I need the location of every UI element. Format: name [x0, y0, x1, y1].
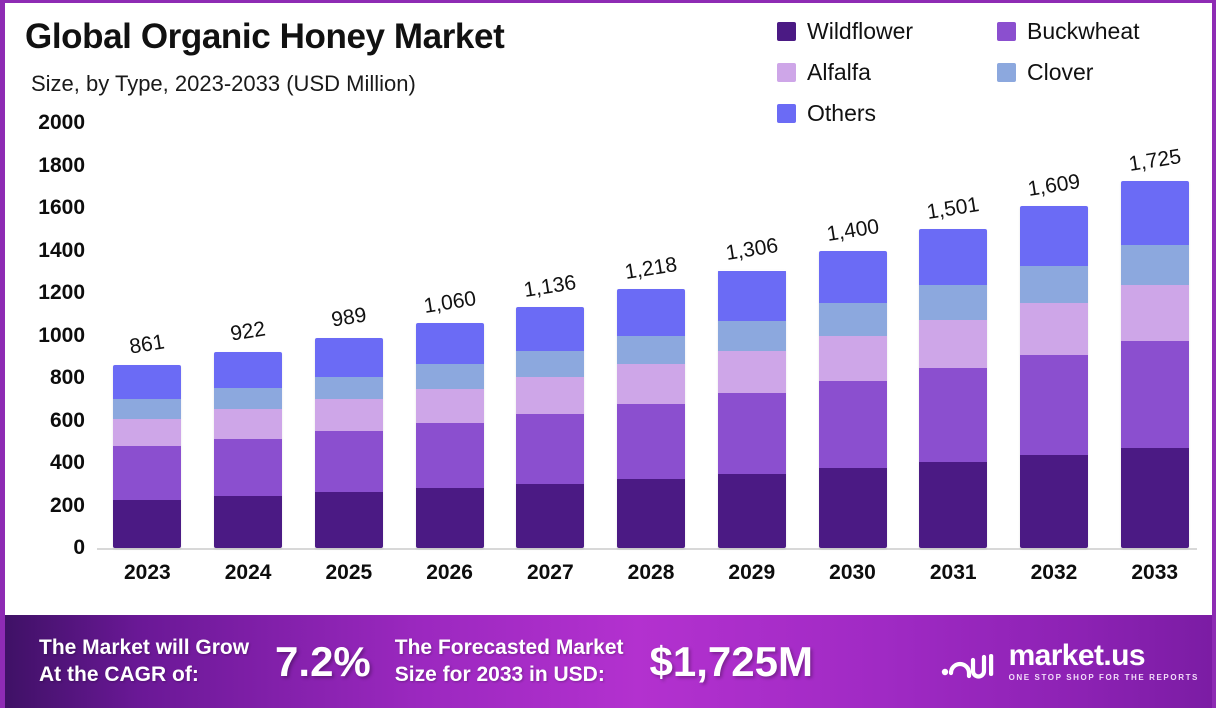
bar-segment-buckwheat[interactable] — [1121, 341, 1189, 449]
y-axis-tick: 2000 — [38, 111, 85, 135]
legend-item-label: Clover — [1027, 59, 1093, 86]
bar-stack[interactable] — [617, 289, 685, 548]
bar-value-label: 1,501 — [925, 193, 981, 225]
bar-column-2026[interactable]: 1,060 — [399, 123, 500, 548]
bar-value-label: 1,400 — [825, 215, 881, 247]
brand-tagline: ONE STOP SHOP FOR THE REPORTS — [1009, 674, 1199, 682]
legend-item-label: Wildflower — [807, 18, 913, 45]
bar-segment-others[interactable] — [214, 352, 282, 388]
bar-value-label: 1,218 — [623, 253, 679, 285]
bar-value-label: 1,136 — [522, 271, 578, 303]
page-subtitle: Size, by Type, 2023-2033 (USD Million) — [31, 71, 416, 97]
legend-swatch-icon — [997, 63, 1016, 82]
cagr-label: The Market will Grow At the CAGR of: — [39, 635, 249, 688]
y-axis-tick: 200 — [50, 494, 85, 518]
y-axis-tick: 800 — [50, 366, 85, 390]
cagr-value: 7.2% — [275, 638, 371, 686]
bar-value-label: 1,306 — [724, 235, 780, 267]
bar-segment-buckwheat[interactable] — [919, 368, 987, 461]
bar-stack[interactable] — [919, 229, 987, 548]
bar-column-2027[interactable]: 1,136 — [500, 123, 601, 548]
bar-column-2025[interactable]: 989 — [298, 123, 399, 548]
bar-segment-clover[interactable] — [416, 364, 484, 388]
bar-segment-others[interactable] — [718, 271, 786, 321]
legend-swatch-icon — [777, 63, 796, 82]
legend-item-label: Buckwheat — [1027, 18, 1140, 45]
y-axis-tick: 1000 — [38, 324, 85, 348]
brand-name: market.us — [1009, 641, 1199, 671]
bar-group: 8619229891,0601,1361,2181,3061,4001,5011… — [97, 123, 1205, 548]
bar-segment-others[interactable] — [1121, 181, 1189, 245]
y-axis-tick: 1200 — [38, 281, 85, 305]
chart-legend: WildflowerBuckwheatAlfalfaCloverOthers — [777, 11, 1216, 134]
bar-stack[interactable] — [214, 352, 282, 548]
bar-segment-clover[interactable] — [214, 388, 282, 409]
bar-segment-wildflower[interactable] — [315, 492, 383, 548]
bar-stack[interactable] — [1121, 181, 1189, 548]
y-axis-tick: 0 — [73, 536, 85, 560]
x-axis-tick-2026: 2026 — [399, 561, 500, 585]
bar-segment-buckwheat[interactable] — [315, 431, 383, 492]
bar-segment-wildflower[interactable] — [516, 484, 584, 548]
bar-segment-alfalfa[interactable] — [718, 351, 786, 393]
bar-value-label: 861 — [128, 330, 166, 359]
bar-segment-alfalfa[interactable] — [819, 336, 887, 381]
bar-segment-clover[interactable] — [919, 285, 987, 319]
bar-segment-clover[interactable] — [819, 303, 887, 335]
bar-segment-buckwheat[interactable] — [113, 446, 181, 499]
bar-stack[interactable] — [819, 251, 887, 549]
subtitle-main: Size, by Type, 2023-2033 — [31, 71, 280, 96]
bar-stack[interactable] — [113, 365, 181, 548]
market-us-mark-icon — [939, 642, 999, 682]
bar-segment-buckwheat[interactable] — [617, 404, 685, 479]
bar-segment-alfalfa[interactable] — [1121, 285, 1189, 341]
bar-segment-others[interactable] — [819, 251, 887, 304]
legend-swatch-icon — [997, 22, 1016, 41]
bar-stack[interactable] — [516, 307, 584, 548]
bar-column-2031[interactable]: 1,501 — [903, 123, 1004, 548]
forecast-label-line2: Size for 2033 in USD: — [395, 662, 624, 688]
x-axis-tick-2033: 2033 — [1104, 561, 1205, 585]
bar-segment-alfalfa[interactable] — [1020, 303, 1088, 355]
legend-swatch-icon — [777, 22, 796, 41]
bar-segment-buckwheat[interactable] — [214, 439, 282, 496]
page-title: Global Organic Honey Market — [25, 17, 504, 57]
forecast-label: The Forecasted Market Size for 2033 in U… — [395, 635, 624, 688]
bar-segment-alfalfa[interactable] — [516, 377, 584, 414]
bar-column-2033[interactable]: 1,725 — [1104, 123, 1205, 548]
legend-item-buckwheat[interactable]: Buckwheat — [997, 11, 1216, 52]
x-axis-tick-2030: 2030 — [802, 561, 903, 585]
forecast-value: $1,725M — [650, 638, 813, 686]
y-axis-tick: 1800 — [38, 154, 85, 178]
bar-segment-buckwheat[interactable] — [516, 414, 584, 484]
bar-segment-alfalfa[interactable] — [113, 419, 181, 447]
x-axis-tick-2031: 2031 — [903, 561, 1004, 585]
bar-segment-alfalfa[interactable] — [416, 389, 484, 423]
bar-segment-wildflower[interactable] — [919, 462, 987, 548]
cagr-label-line2: At the CAGR of: — [39, 662, 249, 688]
y-axis-tick: 1600 — [38, 196, 85, 220]
bar-segment-clover[interactable] — [1020, 266, 1088, 303]
bar-segment-alfalfa[interactable] — [919, 320, 987, 368]
bar-value-label: 922 — [229, 317, 267, 346]
bar-column-2029[interactable]: 1,306 — [701, 123, 802, 548]
bar-segment-alfalfa[interactable] — [315, 399, 383, 431]
bar-segment-wildflower[interactable] — [1121, 448, 1189, 548]
x-axis-tick-2032: 2032 — [1004, 561, 1105, 585]
x-axis: 2023202420252026202720282029203020312032… — [97, 561, 1205, 585]
bar-segment-wildflower[interactable] — [416, 488, 484, 548]
bar-segment-buckwheat[interactable] — [718, 393, 786, 474]
chart-plot-area: 2000180016001400120010008006004002000 86… — [5, 123, 1216, 603]
bar-segment-wildflower[interactable] — [1020, 455, 1088, 548]
bar-segment-others[interactable] — [516, 307, 584, 352]
bar-segment-buckwheat[interactable] — [1020, 355, 1088, 455]
bar-segment-buckwheat[interactable] — [819, 381, 887, 468]
bar-segment-clover[interactable] — [1121, 245, 1189, 285]
bar-value-label: 1,060 — [422, 287, 478, 319]
header: Global Organic Honey Market Size, by Typ… — [5, 3, 1212, 127]
y-axis-tick: 1400 — [38, 239, 85, 263]
bar-column-2032[interactable]: 1,609 — [1004, 123, 1105, 548]
bar-segment-others[interactable] — [416, 323, 484, 365]
x-axis-tick-2028: 2028 — [601, 561, 702, 585]
bar-value-label: 989 — [330, 303, 368, 332]
bar-segment-wildflower[interactable] — [113, 500, 181, 548]
bar-segment-clover[interactable] — [315, 377, 383, 400]
brand-text: market.us ONE STOP SHOP FOR THE REPORTS — [1009, 641, 1199, 682]
x-axis-tick-2024: 2024 — [198, 561, 299, 585]
bar-column-2028[interactable]: 1,218 — [601, 123, 702, 548]
bar-segment-buckwheat[interactable] — [416, 423, 484, 488]
bar-segment-clover[interactable] — [516, 351, 584, 377]
bar-segment-others[interactable] — [315, 338, 383, 377]
bar-segment-clover[interactable] — [617, 336, 685, 364]
x-axis-tick-2029: 2029 — [701, 561, 802, 585]
bar-segment-wildflower[interactable] — [819, 468, 887, 548]
bar-column-2030[interactable]: 1,400 — [802, 123, 903, 548]
bar-segment-clover[interactable] — [113, 399, 181, 419]
bar-value-label: 1,725 — [1127, 145, 1183, 177]
brand-logo[interactable]: market.us ONE STOP SHOP FOR THE REPORTS — [939, 641, 1199, 682]
legend-item-label: Alfalfa — [807, 59, 871, 86]
footer-banner: The Market will Grow At the CAGR of: 7.2… — [5, 615, 1216, 708]
bar-segment-others[interactable] — [113, 365, 181, 399]
bar-segment-others[interactable] — [1020, 206, 1088, 266]
bar-segment-others[interactable] — [617, 289, 685, 336]
x-axis-tick-2023: 2023 — [97, 561, 198, 585]
bar-segment-alfalfa[interactable] — [617, 364, 685, 403]
infographic-root: Global Organic Honey Market Size, by Typ… — [0, 0, 1216, 708]
subtitle-unit: (USD Million) — [286, 71, 416, 96]
bar-stack[interactable] — [1020, 206, 1088, 548]
bar-segment-wildflower[interactable] — [617, 479, 685, 548]
legend-item-clover[interactable]: Clover — [997, 52, 1216, 93]
bar-segment-clover[interactable] — [718, 321, 786, 351]
x-axis-tick-2025: 2025 — [298, 561, 399, 585]
y-axis-tick: 400 — [50, 451, 85, 475]
x-axis-tick-2027: 2027 — [500, 561, 601, 585]
bar-column-2023[interactable]: 861 — [97, 123, 198, 548]
y-axis-tick: 600 — [50, 409, 85, 433]
bar-value-label: 1,609 — [1026, 170, 1082, 202]
bar-segment-wildflower[interactable] — [718, 474, 786, 548]
bar-stack[interactable] — [416, 323, 484, 548]
bar-stack[interactable] — [718, 270, 786, 548]
bar-segment-wildflower[interactable] — [214, 496, 282, 548]
legend-item-alfalfa[interactable]: Alfalfa — [777, 52, 997, 93]
x-axis-baseline — [97, 548, 1197, 550]
bar-segment-others[interactable] — [919, 229, 987, 285]
forecast-label-line1: The Forecasted Market — [395, 635, 624, 661]
bar-column-2024[interactable]: 922 — [198, 123, 299, 548]
bar-segment-alfalfa[interactable] — [214, 409, 282, 439]
cagr-label-line1: The Market will Grow — [39, 635, 249, 661]
bar-stack[interactable] — [315, 338, 383, 548]
legend-item-wildflower[interactable]: Wildflower — [777, 11, 997, 52]
y-axis: 2000180016001400120010008006004002000 — [5, 123, 91, 553]
legend-swatch-icon — [777, 104, 796, 123]
